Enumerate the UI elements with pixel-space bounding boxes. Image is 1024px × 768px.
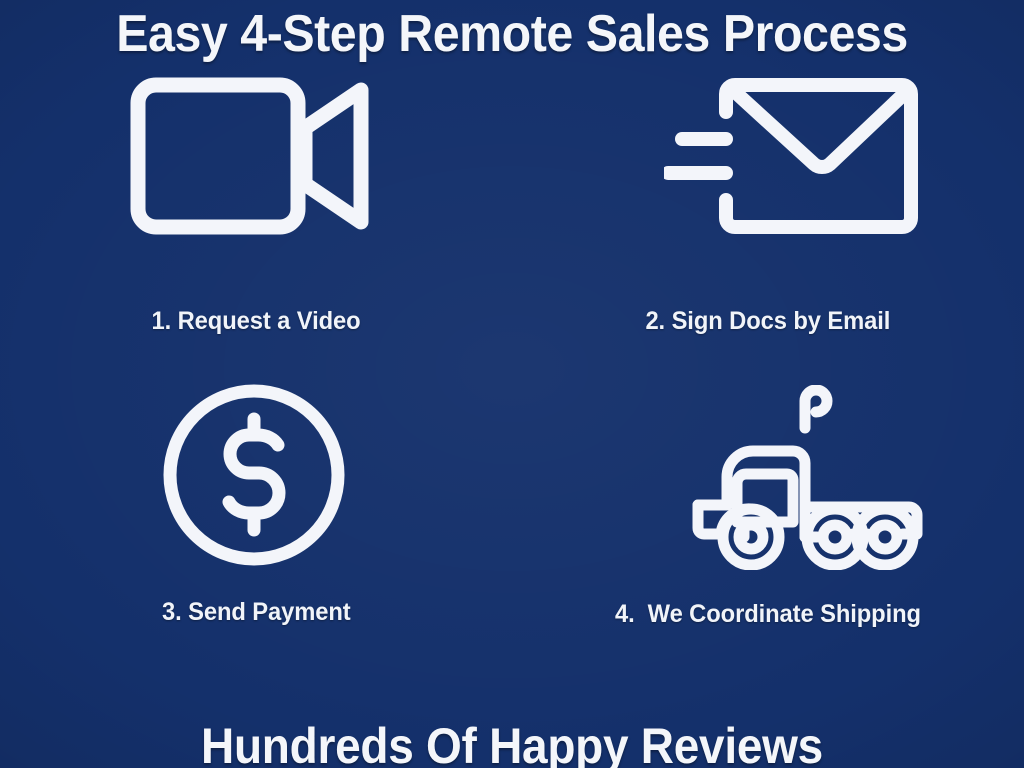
step-card-4[interactable]: 4. We Coordinate Shipping (512, 381, 1024, 666)
footer-tagline: Hundreds Of Happy Reviews (41, 716, 983, 768)
page-title: Easy 4-Step Remote Sales Process (36, 4, 988, 64)
infographic-poster: Easy 4-Step Remote Sales Process 1. Requ… (0, 0, 1024, 768)
step-label-1: 1. Request a Video (151, 306, 360, 336)
dollar-coin-icon (161, 375, 347, 575)
step-card-2[interactable]: 2. Sign Docs by Email (512, 96, 1024, 381)
step-card-3[interactable]: 3. Send Payment (0, 381, 512, 666)
envelope-mail-icon (664, 56, 926, 256)
video-camera-icon (129, 56, 379, 256)
step-card-1[interactable]: 1. Request a Video (0, 96, 512, 381)
steps-grid: 1. Request a Video 2. Sign Docs by Email (0, 96, 1024, 666)
step-label-4: 4. We Coordinate Shipping (615, 599, 921, 629)
step-label-3: 3. Send Payment (162, 597, 351, 627)
semi-truck-icon (681, 377, 933, 577)
step-label-2: 2. Sign Docs by Email (646, 306, 891, 336)
